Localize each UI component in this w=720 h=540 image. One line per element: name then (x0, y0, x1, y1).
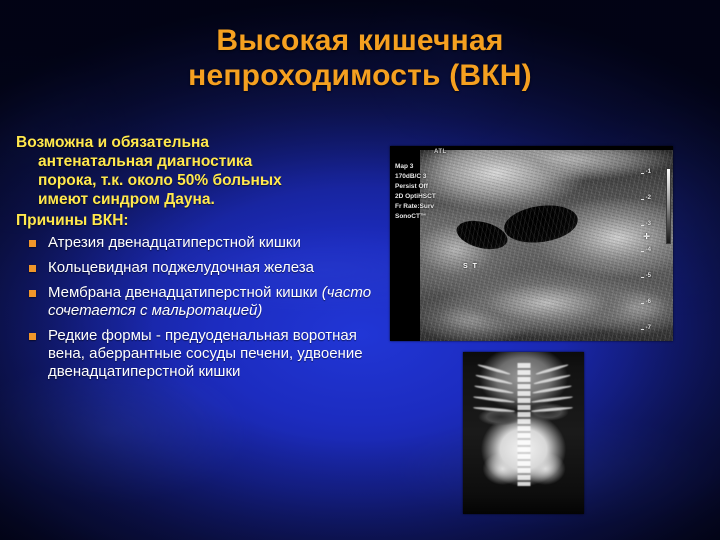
ultrasound-param: Fr Rate:Surv (395, 202, 436, 212)
lead-line-4: имеют синдром Дауна. (16, 190, 388, 209)
list-item: Атрезия двенадцатиперстной кишки (16, 234, 388, 252)
xray-rib (531, 395, 573, 403)
list-item: Кольцевидная поджелудочная железа (16, 259, 388, 277)
depth-tick: -2 (646, 195, 651, 201)
depth-tick: -5 (646, 273, 651, 279)
lead-line-1: Возможна и обязательна (16, 134, 209, 151)
square-bullet-icon (29, 290, 36, 297)
slide-title-line-1: Высокая кишечная (0, 24, 720, 59)
list-item-label: Атрезия двенадцатиперстной кишки (48, 234, 301, 251)
square-bullet-icon (29, 240, 36, 247)
xray-rib (473, 406, 515, 413)
caliper-icon: ✛ (643, 234, 650, 241)
xray-radiograph-area (463, 352, 584, 514)
causes-subheading: Причины ВКН: (16, 211, 388, 230)
depth-tick: -1 (646, 169, 651, 175)
depth-tick: -3 (646, 221, 651, 227)
xray-rib (533, 374, 571, 385)
ultrasound-param: Persist Off (395, 182, 436, 192)
ultrasound-vendor-logo: ATL (434, 149, 447, 155)
ultrasound-param: SonoCT™ (395, 212, 436, 222)
slide-body: Возможна и обязательна антенатальная диа… (16, 133, 388, 388)
ultrasound-grayscale-bar (666, 168, 671, 244)
lead-line-2: антенатальная диагностика (16, 152, 388, 171)
xray-rib (535, 363, 569, 375)
list-item-label: Мембрана двенадцатиперстной кишки (48, 284, 322, 301)
xray-rib (532, 385, 572, 395)
ultrasound-param: 170dB/C 3 (395, 172, 436, 182)
xray-rib (474, 385, 514, 395)
square-bullet-icon (29, 265, 36, 272)
ultrasound-depth-scale: -1 -2 -3 -4 -5 -6 -7 (635, 151, 657, 337)
slide-title: Высокая кишечная непроходимость (ВКН) (0, 24, 720, 94)
lead-paragraph: Возможна и обязательна антенатальная диа… (16, 133, 388, 209)
xray-image (463, 352, 584, 514)
depth-tick: -6 (646, 299, 651, 305)
slide-title-line-2: непроходимость (ВКН) (0, 59, 720, 94)
xray-rib (473, 395, 515, 403)
depth-tick: -7 (646, 325, 651, 331)
xray-rib (531, 406, 573, 413)
causes-list: Атрезия двенадцатиперстной кишки Кольцев… (16, 234, 388, 381)
ultrasound-parameters: Map 3 170dB/C 3 Persist Off 2D OptiHSCT … (395, 162, 436, 222)
slide-canvas: Высокая кишечная непроходимость (ВКН) Во… (0, 0, 720, 540)
list-item-label: Кольцевидная поджелудочная железа (48, 259, 314, 276)
xray-rib (477, 363, 511, 375)
ultrasound-image: ATL Map 3 170dB/C 3 Persist Off 2D OptiH… (390, 146, 673, 341)
list-item-label: Редкие формы - предуоденальная воротная … (48, 327, 363, 380)
list-item: Мембрана двенадцатиперстной кишки (часто… (16, 284, 388, 320)
depth-tick: -4 (646, 247, 651, 253)
lead-line-3: порока, т.к. около 50% больных (16, 171, 388, 190)
ultrasound-annotation-st: S T (463, 263, 478, 270)
xray-rib (475, 374, 513, 385)
square-bullet-icon (29, 333, 36, 340)
list-item: Редкие формы - предуоденальная воротная … (16, 327, 388, 381)
xray-spine (517, 363, 530, 486)
ultrasound-param: Map 3 (395, 162, 436, 172)
double-bubble-duodenum (454, 216, 511, 254)
ultrasound-param: 2D OptiHSCT (395, 192, 436, 202)
double-bubble-stomach (502, 201, 580, 247)
